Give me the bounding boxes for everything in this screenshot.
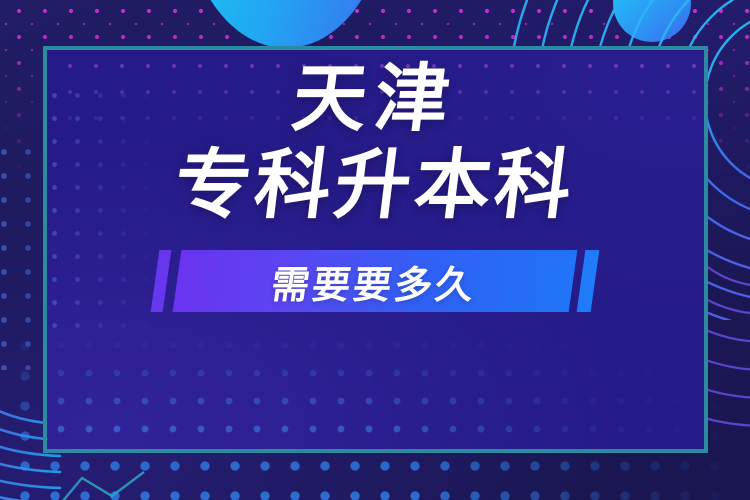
subtitle-text: 需要要多久 bbox=[269, 254, 482, 309]
subtitle-banner-bar-left bbox=[151, 250, 172, 312]
poster-title-line-1: 天津 bbox=[288, 62, 461, 136]
subtitle-banner-bar-right bbox=[577, 250, 600, 312]
poster-title-line-2: 专科升本科 bbox=[170, 148, 579, 224]
poster-canvas: 天津 专科升本科 需要要多久 bbox=[0, 0, 750, 500]
poster-content: 天津 专科升本科 需要要多久 bbox=[0, 0, 750, 500]
subtitle-banner: 需要要多久 bbox=[149, 250, 601, 312]
